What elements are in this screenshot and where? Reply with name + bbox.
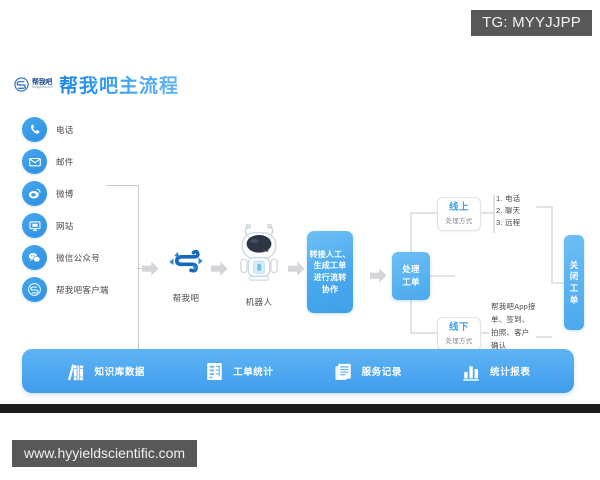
method-title: 线上 [449,203,469,213]
footer-item-service-records[interactable]: 服务记录 [333,360,402,383]
footer-stats-bar: 知识库数据 工单统计 [22,349,574,393]
brand-wordmark-en: Bangwoba.com [32,86,53,89]
page-title: 帮我吧主流程 [59,71,179,98]
channel-label: 微信公众号 [56,252,100,264]
method-box-online: 线上 处理方式 [437,197,481,231]
detail-list-online: 1. 电话 2. 聊天 3. 远程 [496,193,520,229]
flow-node-bangwoba: 帮我吧 [158,241,214,304]
service-records-icon [333,360,354,383]
process-box-line: 协作 [322,284,338,296]
method-subtitle: 处理方式 [446,215,473,225]
detail-item: 2. 聊天 [496,205,520,217]
detail-item: 3. 远程 [496,217,520,229]
channel-aggregation-bracket [106,185,139,355]
channel-item-wechat-official[interactable]: 微信公众号 [22,245,109,270]
process-box-line: 进行流转 [314,272,347,284]
detail-item: 1. 电话 [496,193,520,205]
bottom-edge-bar [0,404,600,413]
closed-ticket-char: 关 [570,260,579,271]
bangwoba-mark-icon [14,77,29,92]
page-header: 帮我吧 Bangwoba.com 帮我吧主流程 [14,71,179,98]
closed-ticket-char: 工 [570,283,579,294]
channel-label: 帮我吧客户端 [56,284,109,296]
brand-wordmark: 帮我吧 Bangwoba.com [32,79,53,89]
footer-item-ticket-stats[interactable]: 工单统计 [204,360,273,383]
channel-label: 邮件 [56,156,74,168]
mail-icon [22,149,47,174]
detail-list-offline: 帮我吧App接单、签到、拍照、客户确认 [491,301,537,353]
bangwoba-client-icon [22,277,47,302]
brand-logo: 帮我吧 Bangwoba.com [14,74,48,96]
footer-item-label: 统计报表 [490,364,530,378]
bangwoba-logo-icon [166,241,206,281]
ticket-box-line: 处理 [402,263,420,276]
footer-item-reports[interactable]: 统计报表 [461,360,530,383]
flow-node-caption: 帮我吧 [158,292,214,304]
method-title: 线下 [449,323,469,333]
flow-arrow-1 [142,261,159,277]
phone-icon [22,117,47,142]
channel-label: 网站 [56,220,74,232]
diagram-stage: 帮我吧 Bangwoba.com 帮我吧主流程 电话 邮件 [0,55,600,405]
bar-chart-icon [461,360,482,383]
url-watermark: www.hyyieldscientific.com [12,440,197,467]
footer-item-label: 知识库数据 [95,364,146,378]
channel-label: 微博 [56,188,74,200]
telegram-watermark: TG: MYYJJPP [471,10,592,36]
footer-item-knowledge-base[interactable]: 知识库数据 [66,360,146,383]
closed-ticket-box: 关 闭 工 单 [564,235,584,330]
channel-label: 电话 [56,124,74,136]
footer-item-label: 工单统计 [233,364,273,378]
channel-list: 电话 邮件 微博 [22,117,109,302]
footer-item-label: 服务记录 [362,364,402,378]
ticket-handling-box: 处理 工单 [392,252,430,300]
closed-ticket-char: 单 [570,295,579,306]
channel-item-website[interactable]: 网站 [22,213,109,238]
channel-item-weibo[interactable]: 微博 [22,181,109,206]
process-box-line: 转接人工、 [310,249,351,261]
robot-icon [232,223,286,285]
wechat-official-icon [22,245,47,270]
channel-item-bangwoba-client[interactable]: 帮我吧客户端 [22,277,109,302]
channel-item-mail[interactable]: 邮件 [22,149,109,174]
channel-item-phone[interactable]: 电话 [22,117,109,142]
process-box: 转接人工、 生成工单 进行流转 协作 [307,231,353,313]
method-box-offline: 线下 处理方式 [437,317,481,351]
closed-ticket-char: 闭 [570,271,579,282]
method-subtitle: 处理方式 [446,335,473,345]
weibo-icon [22,181,47,206]
ticket-box-line: 工单 [402,276,420,289]
flow-node-robot: 机器人 [228,223,290,308]
flow-arrow-2 [211,261,228,277]
process-box-line: 生成工单 [314,260,347,272]
flow-node-caption: 机器人 [228,296,290,308]
list-document-icon [204,360,225,383]
website-icon [22,213,47,238]
books-icon [66,360,87,383]
flow-arrow-4 [370,268,387,284]
flow-arrow-3 [288,261,305,277]
